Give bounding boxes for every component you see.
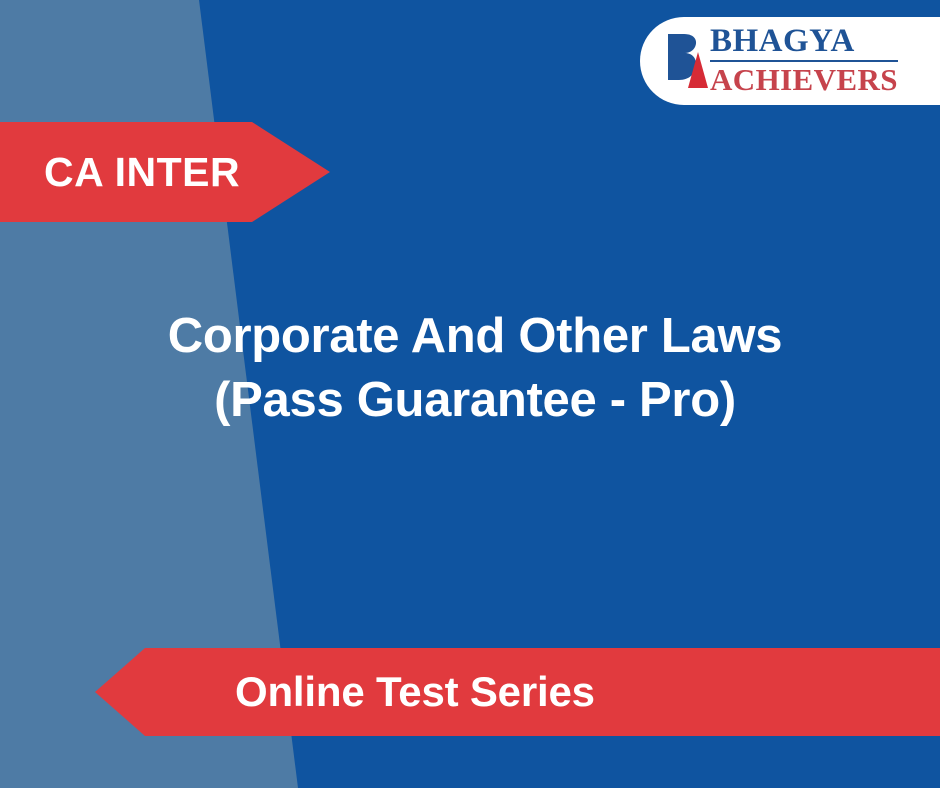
course-title: Corporate And Other Laws (Pass Guarantee…	[60, 305, 890, 432]
brand-name-secondary: ACHIEVERS	[710, 64, 898, 97]
brand-logo-card[interactable]: BHAGYA ACHIEVERS	[640, 17, 940, 105]
offering-label: Online Test Series	[95, 668, 595, 716]
brand-wordmark: BHAGYA ACHIEVERS	[710, 25, 898, 96]
bhagya-monogram-icon	[664, 32, 710, 90]
brand-name-primary: BHAGYA	[710, 25, 898, 62]
course-title-line-2: (Pass Guarantee - Pro)	[60, 369, 890, 433]
course-promo-banner: BHAGYA ACHIEVERS CA INTER Corporate And …	[0, 0, 940, 788]
course-level-label: CA INTER	[0, 149, 240, 196]
course-title-line-1: Corporate And Other Laws	[60, 305, 890, 369]
offering-ribbon: Online Test Series	[95, 648, 940, 736]
